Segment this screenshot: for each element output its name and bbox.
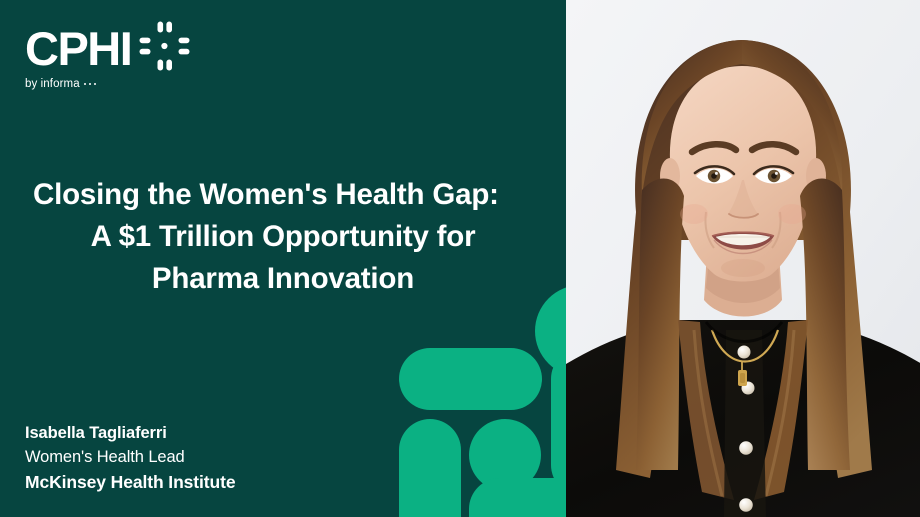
left-content-panel: CPHI	[0, 0, 566, 517]
headline-line-1: Closing the Women's Health Gap:	[33, 174, 533, 216]
logo-wordmark: CPHI	[25, 25, 131, 72]
cphi-logo: CPHI	[25, 25, 191, 90]
logo-row: CPHI	[25, 25, 191, 73]
logo-tagline-text: by informa	[25, 78, 80, 90]
presentation-slide: CPHI	[0, 0, 920, 517]
decorative-pill-right	[551, 348, 566, 496]
logo-tagline: by informa	[25, 78, 191, 90]
headline-line-2: A $1 Trillion Opportunity for	[33, 216, 533, 258]
decorative-bar-bottom	[469, 478, 566, 517]
speaker-role: Women's Health Lead	[25, 445, 235, 470]
speaker-name: Isabella Tagliaferri	[25, 421, 235, 445]
speaker-organization: McKinsey Health Institute	[25, 470, 235, 495]
headline-line-3: Pharma Innovation	[33, 258, 533, 300]
speaker-credit: Isabella Tagliaferri Women's Health Lead…	[25, 421, 235, 495]
decorative-bar-wide	[399, 348, 542, 410]
page-title: Closing the Women's Health Gap: A $1 Tri…	[33, 174, 533, 300]
cphi-radial-dots-icon	[137, 19, 191, 73]
decorative-pill-left	[399, 419, 461, 517]
speaker-portrait-photo	[566, 0, 920, 517]
informa-dots-icon	[84, 83, 97, 86]
